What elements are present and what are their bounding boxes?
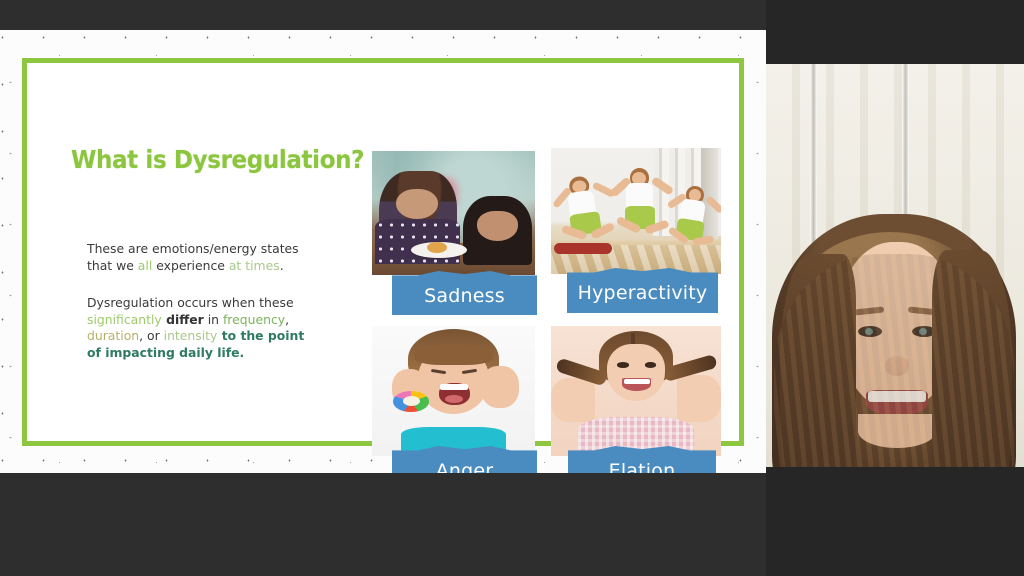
p2-seg-8: intensity — [164, 328, 218, 343]
p2-seg-3: in — [204, 312, 223, 327]
anger-child-bracelet — [393, 391, 429, 412]
slide-paragraph-2: Dysregulation occurs when these signific… — [87, 295, 322, 361]
meeting-screen: What is Dysregulation? These are emotion… — [0, 0, 1024, 576]
hyperactivity-child-1 — [551, 172, 618, 252]
letterbox-top — [0, 0, 766, 30]
sadness-child-left-face — [396, 189, 438, 219]
webcam-video — [766, 64, 1024, 467]
anger-child-hand-right — [481, 366, 518, 408]
elation-girl-eye-left — [617, 362, 629, 367]
p2-seg-6: duration — [87, 328, 139, 343]
photo-anger — [372, 326, 535, 456]
child-3-arm-right — [704, 195, 721, 214]
p2-seg-1: significantly — [87, 312, 162, 327]
p2-seg-4: frequency — [223, 312, 285, 327]
elation-girl-arm-right — [677, 375, 721, 422]
presentation-slide: What is Dysregulation? These are emotion… — [22, 58, 744, 446]
anger-child-fringe — [414, 344, 492, 365]
elation-girl-teeth — [624, 379, 650, 384]
webcam-tile[interactable] — [766, 0, 1024, 467]
elation-girl-eye-right — [645, 362, 657, 367]
caption-banner-hyperactivity: Hyperactivity — [567, 268, 718, 313]
sadness-child-right-face — [477, 211, 518, 242]
p1-seg-4: . — [280, 258, 284, 273]
p1-seg-3: at times — [229, 258, 280, 273]
hyperactivity-child-2 — [612, 168, 670, 244]
sadness-child-right — [463, 196, 531, 265]
photo-sadness — [372, 151, 535, 275]
elation-girl-face — [607, 344, 665, 401]
anger-child-teeth — [440, 384, 468, 390]
slide-title: What is Dysregulation? — [71, 145, 364, 174]
webcam-letterbox-bottom — [766, 467, 1024, 576]
hyperactivity-child-3 — [662, 182, 721, 257]
photo-hyperactivity — [551, 148, 721, 274]
p1-seg-2: experience — [152, 258, 229, 273]
elation-girl-arm-left — [551, 378, 595, 422]
photo-elation — [551, 326, 721, 456]
p2-seg-2: differ — [162, 312, 204, 327]
webcam-letterbox-top — [766, 0, 1024, 64]
screen-share-region[interactable]: What is Dysregulation? These are emotion… — [0, 30, 766, 473]
sadness-food — [427, 242, 447, 253]
p1-seg-1: all — [138, 258, 152, 273]
caption-banner-sadness: Sadness — [392, 271, 537, 315]
p2-seg-7: , or — [139, 328, 164, 343]
participant-hair-strands — [774, 254, 1014, 467]
p2-seg-5: , — [285, 312, 289, 327]
anger-child-tongue — [445, 395, 463, 403]
slide-paragraph-1: These are emotions/energy states that we… — [87, 241, 312, 274]
letterbox-bottom — [0, 473, 766, 576]
p2-seg-0: Dysregulation occurs when these — [87, 295, 294, 310]
